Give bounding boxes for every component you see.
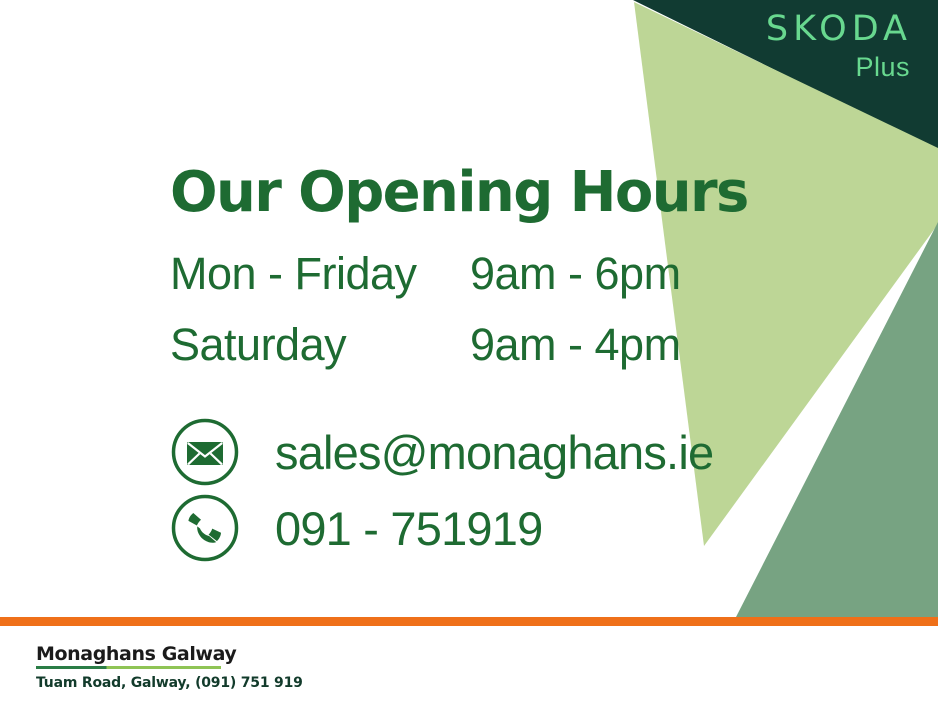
poster-content: Our Opening Hours Mon - Friday 9am - 6pm…	[0, 0, 938, 617]
skoda-plus-logo: SKODA Plus	[766, 12, 912, 81]
dealer-address: Tuam Road, Galway, (091) 751 919	[36, 675, 303, 691]
hours-days: Mon - Friday	[170, 238, 470, 309]
hours-time: 9am - 4pm	[470, 309, 681, 380]
plus-sublabel: Plus	[766, 54, 910, 81]
table-row: Mon - Friday 9am - 6pm	[170, 238, 681, 309]
phone-icon	[170, 493, 240, 563]
skoda-wordmark: SKODA	[766, 12, 912, 47]
contact-phone-label: 091 - 751919	[275, 501, 542, 556]
contact-email-label: sales@monaghans.ie	[275, 425, 713, 480]
dealer-identity: Monaghans Galway	[36, 643, 236, 669]
contact-list: sales@monaghans.ie 091 - 751919	[170, 414, 713, 566]
opening-hours-poster: SKODA Plus Our Opening Hours Mon - Frida…	[0, 0, 938, 704]
contact-email-row[interactable]: sales@monaghans.ie	[170, 414, 713, 490]
table-row: Saturday 9am - 4pm	[170, 309, 681, 380]
dealer-name: Monaghans Galway	[36, 643, 236, 665]
page-title: Our Opening Hours	[170, 160, 748, 225]
hours-days: Saturday	[170, 309, 470, 380]
dealer-underline	[36, 666, 221, 669]
opening-hours-table: Mon - Friday 9am - 6pm Saturday 9am - 4p…	[170, 238, 681, 380]
footer: Monaghans Galway Tuam Road, Galway, (091…	[0, 626, 938, 704]
contact-phone-row[interactable]: 091 - 751919	[170, 490, 713, 566]
orange-accent-bar	[0, 617, 938, 626]
envelope-icon	[170, 417, 240, 487]
hours-time: 9am - 6pm	[470, 238, 681, 309]
